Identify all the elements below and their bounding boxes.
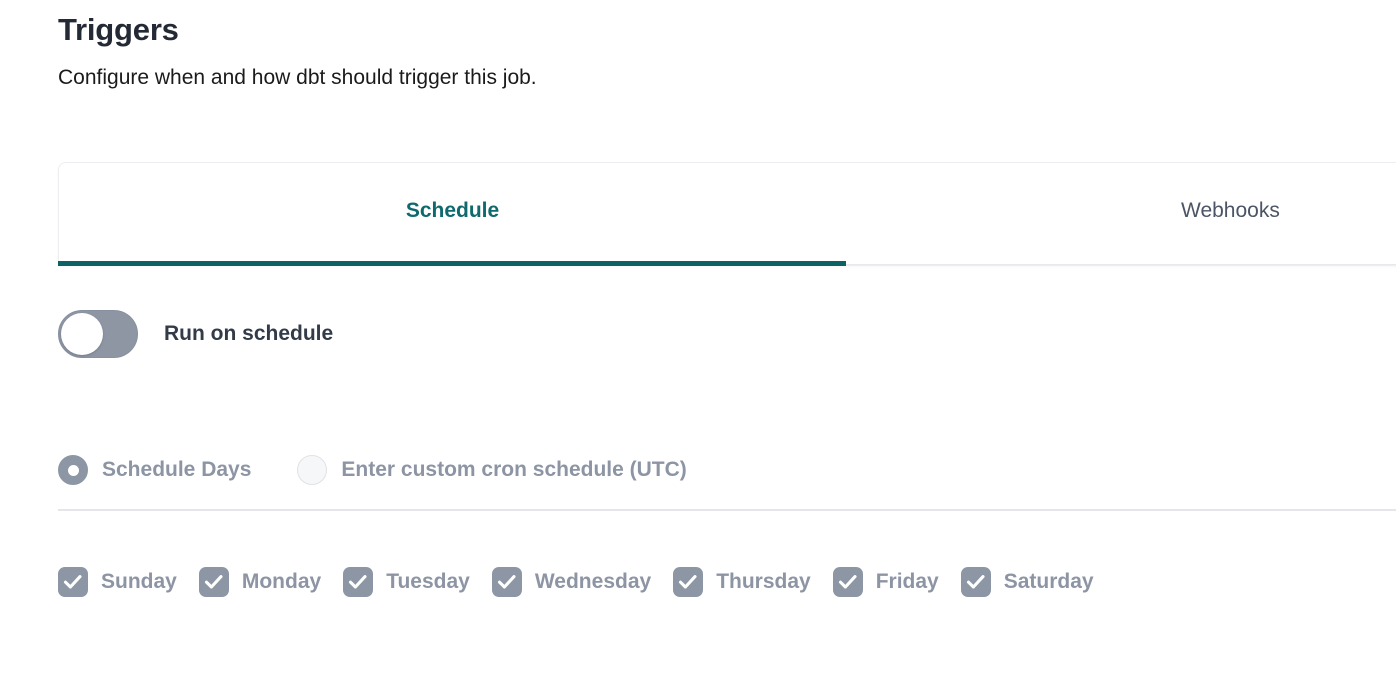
tabs-row: Schedule Webhooks xyxy=(59,163,1396,265)
radio-custom-cron-label: Enter custom cron schedule (UTC) xyxy=(341,456,686,484)
day-label-monday: Monday xyxy=(242,568,321,596)
schedule-days-group: Sunday Monday Tuesday Wednesday Thursday xyxy=(58,567,1094,597)
page-title: Triggers xyxy=(58,10,1358,50)
tab-schedule-label: Schedule xyxy=(406,199,499,222)
check-icon xyxy=(961,567,991,597)
day-label-tuesday: Tuesday xyxy=(386,568,470,596)
triggers-page: Triggers Configure when and how dbt shou… xyxy=(0,0,1396,680)
radio-selected-icon xyxy=(58,455,88,485)
day-checkbox-sunday[interactable]: Sunday xyxy=(58,567,177,597)
check-icon xyxy=(343,567,373,597)
section-divider xyxy=(58,509,1396,511)
day-label-thursday: Thursday xyxy=(716,568,811,596)
day-checkbox-tuesday[interactable]: Tuesday xyxy=(343,567,470,597)
run-on-schedule-label: Run on schedule xyxy=(164,320,333,348)
tab-webhooks-label: Webhooks xyxy=(1181,199,1280,222)
run-on-schedule-row: Run on schedule xyxy=(58,310,333,358)
check-icon xyxy=(58,567,88,597)
radio-schedule-days-label: Schedule Days xyxy=(102,456,251,484)
day-label-sunday: Sunday xyxy=(101,568,177,596)
tab-schedule[interactable]: Schedule xyxy=(59,197,846,231)
page-header: Triggers Configure when and how dbt shou… xyxy=(58,10,1358,93)
radio-schedule-days[interactable]: Schedule Days xyxy=(58,455,251,485)
day-label-saturday: Saturday xyxy=(1004,568,1094,596)
check-icon xyxy=(492,567,522,597)
tabs-baseline xyxy=(846,264,1396,265)
radio-custom-cron[interactable]: Enter custom cron schedule (UTC) xyxy=(297,455,686,485)
triggers-tabs: Schedule Webhooks xyxy=(58,162,1396,266)
day-checkbox-saturday[interactable]: Saturday xyxy=(961,567,1094,597)
day-checkbox-thursday[interactable]: Thursday xyxy=(673,567,811,597)
day-checkbox-wednesday[interactable]: Wednesday xyxy=(492,567,651,597)
run-on-schedule-toggle[interactable] xyxy=(58,310,138,358)
page-subtitle: Configure when and how dbt should trigge… xyxy=(58,63,1358,93)
day-label-friday: Friday xyxy=(876,568,939,596)
day-checkbox-friday[interactable]: Friday xyxy=(833,567,939,597)
schedule-mode-radio-group: Schedule Days Enter custom cron schedule… xyxy=(58,455,687,485)
radio-unselected-icon xyxy=(297,455,327,485)
day-checkbox-monday[interactable]: Monday xyxy=(199,567,321,597)
check-icon xyxy=(199,567,229,597)
check-icon xyxy=(833,567,863,597)
check-icon xyxy=(673,567,703,597)
day-label-wednesday: Wednesday xyxy=(535,568,651,596)
active-tab-indicator xyxy=(58,261,846,266)
toggle-knob xyxy=(61,313,103,355)
tab-webhooks[interactable]: Webhooks xyxy=(846,197,1396,231)
